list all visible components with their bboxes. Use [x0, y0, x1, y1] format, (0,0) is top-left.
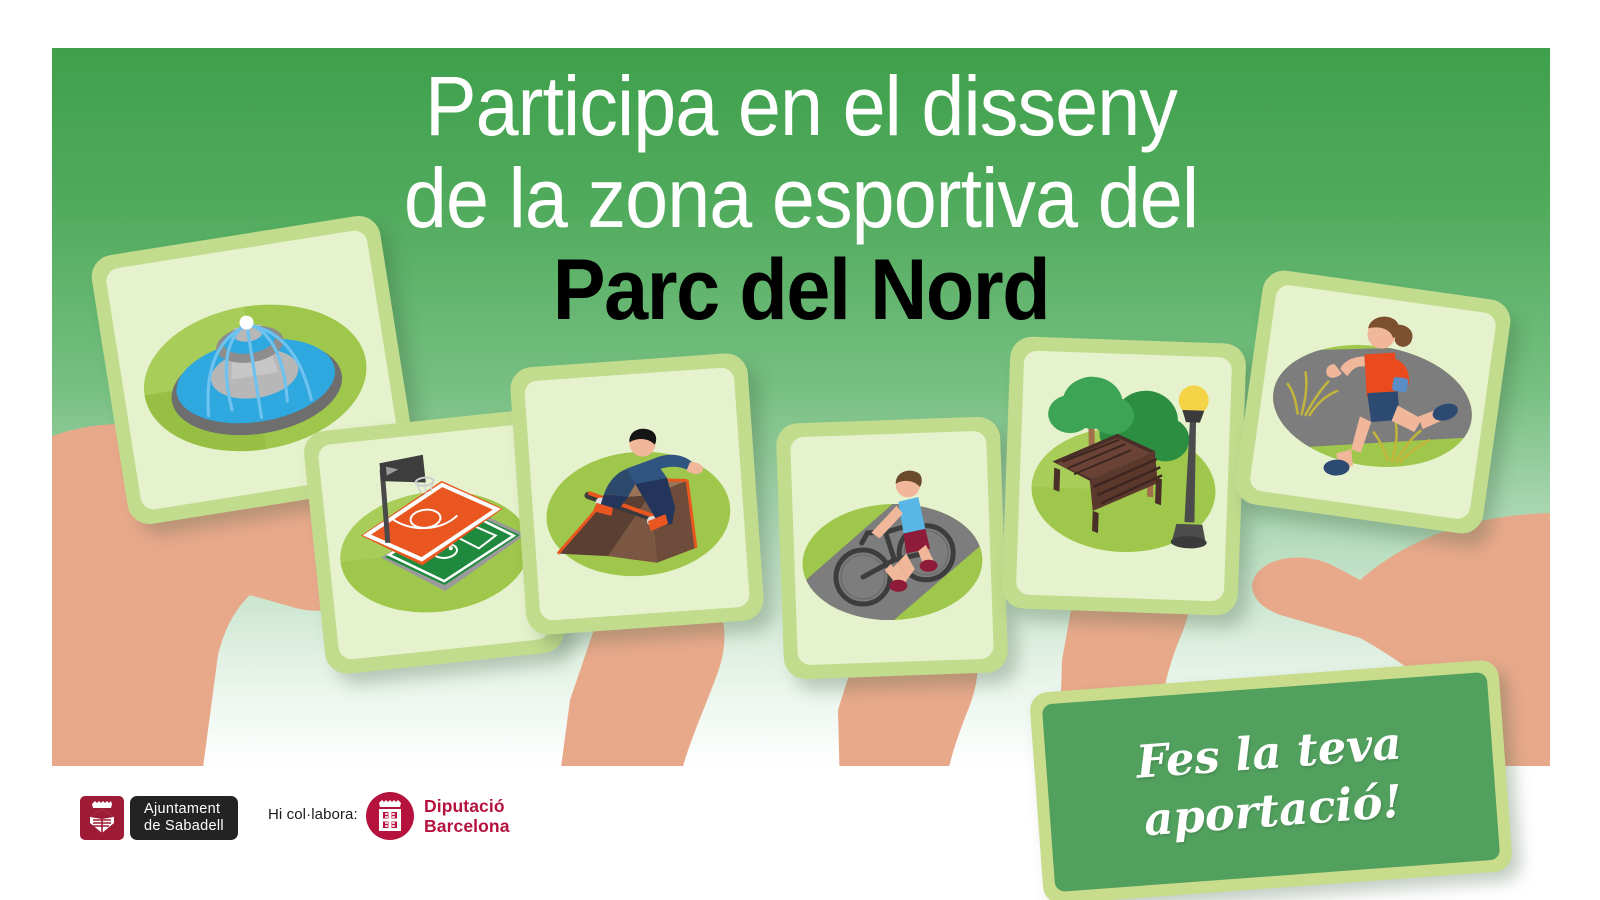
footer-logos: Ajuntament de Sabadell Hi col·labora: Di… — [0, 766, 1600, 900]
bench-tree-lamppost-icon — [1016, 350, 1232, 601]
sabadell-coat-of-arms-icon — [80, 796, 124, 840]
card-cycling[interactable] — [776, 416, 1009, 680]
card-running[interactable] — [1233, 268, 1513, 536]
ajuntament-line-1: Ajuntament — [144, 801, 224, 818]
diputacio-line-1: Diputació — [424, 796, 510, 816]
diputacio-label: Diputació Barcelona — [424, 796, 510, 836]
card-cycling-inner — [790, 431, 994, 666]
card-skate-ramp[interactable] — [509, 352, 765, 636]
skateboarder-ramp-icon — [524, 367, 750, 621]
diputacio-line-2: Barcelona — [424, 816, 510, 836]
card-running-inner — [1249, 284, 1498, 521]
diputacio-coat-of-arms-icon — [366, 792, 414, 840]
collaborate-label: Hi col·labora: — [268, 806, 358, 823]
poster-canvas: Participa en el disseny de la zona espor… — [0, 0, 1600, 900]
ajuntament-label: Ajuntament de Sabadell — [130, 796, 238, 840]
hero-panel — [52, 48, 1550, 766]
cyclist-path-icon — [790, 431, 994, 666]
runner-path-icon — [1249, 284, 1498, 521]
ajuntament-de-sabadell-logo[interactable]: Ajuntament de Sabadell — [80, 796, 238, 840]
ajuntament-line-2: de Sabadell — [144, 818, 224, 835]
diputacio-barcelona-logo[interactable]: Diputació Barcelona — [366, 792, 510, 840]
card-skate-ramp-inner — [524, 367, 750, 621]
card-park-bench-inner — [1016, 350, 1232, 601]
card-park-bench[interactable] — [1001, 336, 1246, 616]
